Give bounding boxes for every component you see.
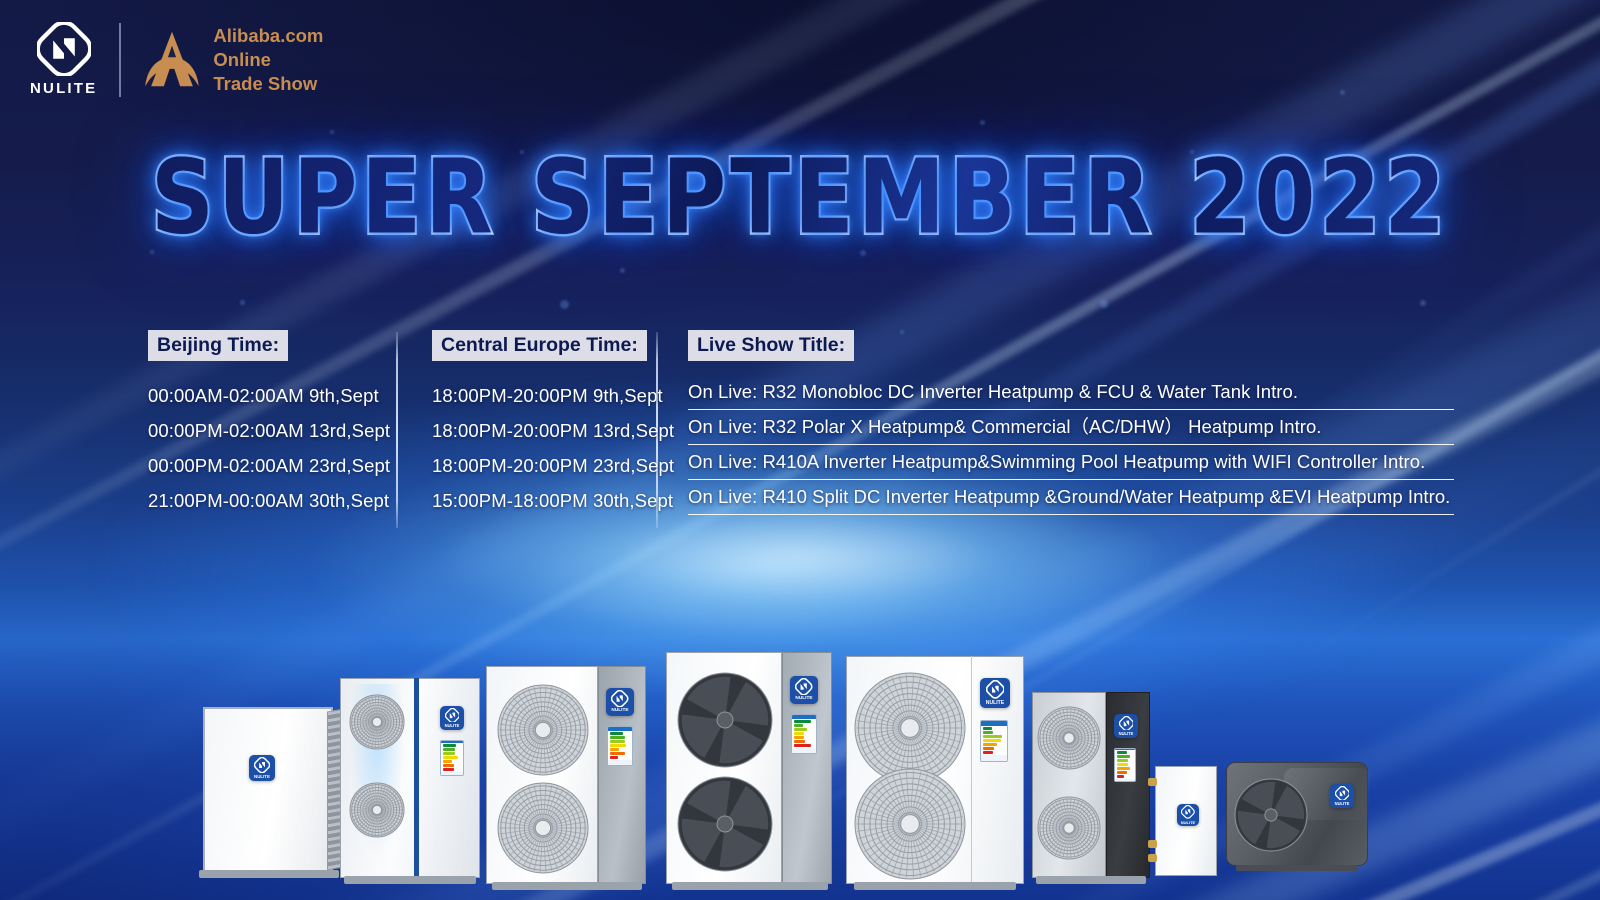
background-speck [330,130,334,134]
unit-base [492,882,642,890]
schedule-column-live-show: Live Show Title: On Live: R32 Monobloc D… [658,330,1454,515]
label-bars [981,726,1007,755]
nulite-diamond-n-icon [795,678,812,695]
nulite-product-badge: NULITE [606,688,634,716]
fan-grille-icon [677,776,773,872]
table-row: On Live: R32 Monobloc DC Inverter Heatpu… [688,375,1454,410]
energy-rating-label [980,720,1008,762]
nulite-product-badge: NULITE [1114,714,1138,738]
background-speck [1100,300,1108,308]
unit-fan [1037,796,1101,865]
nulite-product-badge: NULITE [980,678,1010,708]
unit-fan [1234,778,1308,857]
label-footer [981,755,1007,761]
nulite-product-badge: NULITE [790,676,818,704]
column-header-beijing: Beijing Time: [148,330,288,361]
product-white-cabinet-unit: NULITE [203,707,333,872]
alibaba-a-mark-icon [143,28,201,90]
unit-fan [854,768,966,885]
nulite-wordmark: NULITE [30,80,97,97]
page-title: SUPER SEPTEMBER 2022SUPER SEPTEMBER 2022 [151,146,1449,248]
product-water-source-box-unit: NULITE [1155,766,1217,876]
unit-fan [1037,706,1101,775]
energy-rating-label [1114,748,1136,782]
header-logos: NULITE Alibaba.com Online Trade Show [30,22,323,97]
badge-wordmark: NULITE [795,697,812,702]
label-footer [1115,779,1135,781]
rows-europe: 18:00PM-20:00PM 9th,Sept 18:00PM-20:00PM… [432,378,656,518]
unit-fan [349,694,405,755]
nulite-logo: NULITE [30,22,97,97]
label-footer [441,772,463,775]
fan-grille-icon [349,782,405,838]
unit-base [344,876,476,884]
schedule-column-beijing: Beijing Time: 00:00AM-02:00AM 9th,Sept 0… [148,330,396,518]
fan-grille-icon [497,684,589,776]
label-bars [1115,750,1135,779]
fan-grille-icon [1037,706,1101,770]
badge-wordmark: NULITE [611,709,628,714]
nulite-diamond-n-icon [986,680,1005,699]
nulite-diamond-n-icon [445,708,460,723]
label-bars [792,719,816,748]
fan-grille-icon [854,768,966,880]
product-lineup: NULITENULITENULITENULITENULITENULITENULI… [0,600,1600,900]
alibaba-text-block: Alibaba.com Online Trade Show [213,24,323,96]
fan-grille-icon [497,782,589,874]
product-dual-fan-tall-unit: NULITE [340,678,480,878]
product-grey-poolside-heatpump-unit: NULITE [1226,762,1368,866]
unit-base [1036,876,1146,884]
badge-wordmark: NULITE [1181,821,1195,825]
main-title-area: SUPER SEPTEMBER 2022SUPER SEPTEMBER 2022 [0,146,1600,230]
column-header-live-show: Live Show Title: [688,330,854,361]
nulite-diamond-n-icon [254,757,270,773]
nulite-diamond-n-icon [611,690,628,707]
background-speck [240,300,245,305]
fan-grille-icon [1037,796,1101,860]
label-footer [608,760,632,765]
table-row: On Live: R410A Inverter Heatpump&Swimmin… [688,445,1454,480]
unit-fan [497,684,589,781]
unit-base [672,882,828,890]
unit-base [1236,865,1358,871]
background-speck [1420,300,1426,306]
label-bars [608,731,632,760]
background-speck [980,120,985,125]
table-row: 18:00PM-20:00PM 23rd,Sept [432,448,656,483]
table-row: 15:00PM-18:00PM 30th,Sept [432,483,656,518]
column-header-europe: Central Europe Time: [432,330,647,361]
badge-wordmark: NULITE [445,724,460,728]
fan-grille-icon [677,672,773,768]
nulite-diamond-n-icon [1335,786,1350,801]
nulite-diamond-n-icon [1119,716,1134,731]
nulite-product-badge: NULITE [249,755,275,781]
table-row: 18:00PM-20:00PM 13rd,Sept [432,413,656,448]
alibaba-line-1: Alibaba.com [213,24,323,47]
background-speck [620,268,625,273]
table-row: 21:00PM-00:00AM 30th,Sept [148,483,396,518]
fan-grille-icon [1234,778,1308,852]
product-dual-fan-grille-unit-1: NULITE [486,666,646,884]
energy-rating-label [791,714,817,754]
product-dark-panel-dual-fan-unit: NULITE [1032,692,1150,878]
fan-grille-icon [349,694,405,750]
alibaba-trade-show-logo: Alibaba.com Online Trade Show [143,24,323,96]
background-speck [1340,90,1345,95]
product-dual-fan-grille-unit-2: NULITE [666,652,832,884]
badge-wordmark: NULITE [254,775,270,779]
unit-fan [677,776,773,877]
energy-rating-label [440,740,464,776]
nulite-product-badge: NULITE [1177,804,1199,826]
energy-rating-label [607,726,633,766]
schedule-table: Beijing Time: 00:00AM-02:00AM 9th,Sept 0… [148,330,1454,528]
page-title-fill: SUPER SEPTEMBER 2022 [151,146,1449,248]
unit-fan [677,672,773,773]
background-speck [560,300,569,309]
label-footer [792,748,816,753]
nulite-diamond-n-icon [1181,805,1195,819]
nulite-product-badge: NULITE [440,706,464,730]
table-row: On Live: R32 Polar X Heatpump& Commercia… [688,410,1454,445]
header-divider [119,23,121,97]
badge-wordmark: NULITE [1335,802,1350,806]
rows-live-show: On Live: R32 Monobloc DC Inverter Heatpu… [688,375,1454,515]
alibaba-line-3: Trade Show [213,72,323,95]
label-bars [441,743,463,772]
unit-fan [349,782,405,843]
table-row: On Live: R410 Split DC Inverter Heatpump… [688,480,1454,515]
table-row: 00:00AM-02:00AM 9th,Sept [148,378,396,413]
badge-wordmark: NULITE [1119,732,1134,736]
table-row: 18:00PM-20:00PM 9th,Sept [432,378,656,413]
poster-canvas: NULITE Alibaba.com Online Trade Show SUP… [0,0,1600,900]
table-row: 00:00PM-02:00AM 13rd,Sept [148,413,396,448]
unit-fan [497,782,589,879]
nulite-diamond-n-icon [37,22,91,76]
rows-beijing: 00:00AM-02:00AM 9th,Sept 00:00PM-02:00AM… [148,378,396,518]
unit-base [854,882,1016,890]
table-row: 00:00PM-02:00AM 23rd,Sept [148,448,396,483]
unit-base [199,870,339,878]
badge-wordmark: NULITE [986,701,1004,706]
nulite-product-badge: NULITE [1330,784,1354,808]
schedule-column-europe: Central Europe Time: 18:00PM-20:00PM 9th… [398,330,656,518]
alibaba-line-2: Online [213,48,323,71]
product-dual-fan-white-unit: NULITE [846,656,1024,884]
